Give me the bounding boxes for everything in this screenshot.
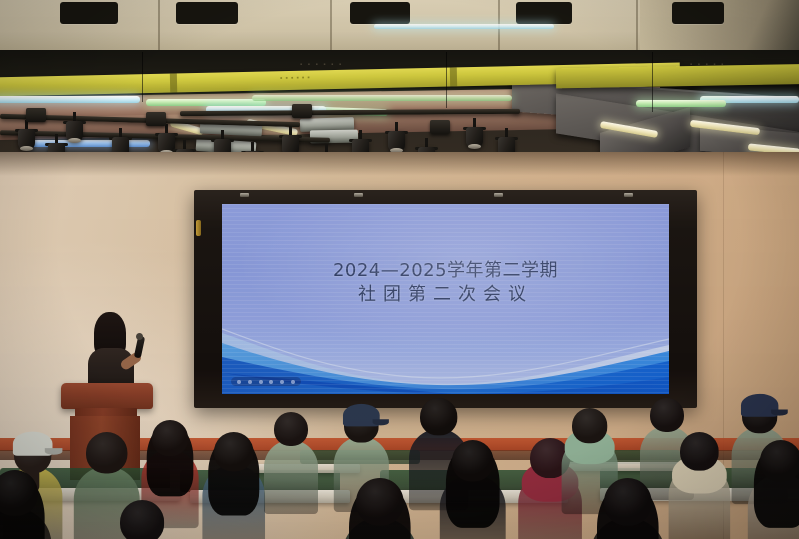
ceiling-vent <box>60 2 118 24</box>
spotlight-yoke <box>325 144 328 152</box>
stage-light-body <box>430 120 450 134</box>
screen-bezel-clip <box>354 193 363 197</box>
spotlight-housing <box>176 149 193 152</box>
highlighter-icon[interactable] <box>259 380 263 384</box>
slide-title-line: 2024—2025学年第二学期 <box>222 260 669 281</box>
attendee-cap-brim <box>771 409 788 415</box>
fluorescent-tube <box>0 96 140 103</box>
spotlight-housing <box>112 137 129 152</box>
attendee-head <box>650 398 684 432</box>
attendee-head <box>420 398 457 435</box>
ceiling-vent <box>350 2 410 24</box>
attendee-torso <box>264 440 318 514</box>
spotlight-lens <box>20 146 33 151</box>
attendee-head <box>0 470 38 516</box>
attendee-head <box>760 440 799 481</box>
ceiling-vent <box>516 2 572 24</box>
attendee-head <box>356 478 404 526</box>
slide-subtitle-line: 社团第二次会议 <box>222 284 669 305</box>
attendee-head <box>86 432 127 473</box>
screen-bezel-clip <box>240 193 249 197</box>
attendee-head <box>274 412 308 446</box>
ceiling-panel-rib <box>158 0 160 52</box>
spotlight-lens <box>160 150 173 152</box>
slide-canvas[interactable]: 2024—2025学年第二学期 社团第二次会议 <box>222 204 669 394</box>
fluorescent-tube <box>146 99 266 106</box>
attendee-head <box>452 440 493 481</box>
attendee-cap-brim <box>373 419 389 425</box>
ceiling-structure: ▪ ▪ ▪ ▪ ▪ ▪ ▪ ▪ ▪ ▪ ▪ ▪▪▪▪▪▪ <box>0 0 799 152</box>
attendee-head <box>680 432 719 471</box>
stage-light-body <box>26 108 46 122</box>
screen-bezel-clip <box>494 193 503 197</box>
ceiling-vent <box>176 2 238 24</box>
spotlight-housing <box>352 139 369 152</box>
spotlight-lens <box>468 144 481 149</box>
attendee-head <box>214 432 253 471</box>
lecture-hall-scene: ▪ ▪ ▪ ▪ ▪ ▪ ▪ ▪ ▪ ▪ ▪ ▪▪▪▪▪▪ <box>0 0 799 539</box>
screen-bezel-clip <box>624 193 633 197</box>
spotlight-housing <box>418 147 435 152</box>
more-options-icon[interactable] <box>280 380 284 384</box>
attendee-head <box>120 500 164 539</box>
beam-joint <box>170 73 177 92</box>
fluorescent-tube <box>636 100 726 107</box>
magnify-icon[interactable] <box>291 380 295 384</box>
laser-pointer-icon[interactable] <box>248 380 252 384</box>
suspension-wire <box>652 52 653 112</box>
microphone-head <box>136 333 143 340</box>
ceiling-panel-rib <box>636 0 638 52</box>
spotlight-housing <box>48 143 65 152</box>
attendee-head <box>604 478 652 526</box>
yellow-beam-right-extension <box>556 64 799 89</box>
wall-top-shadow <box>0 150 799 176</box>
attendee-head <box>152 420 188 456</box>
screen-mount-bracket <box>196 220 201 236</box>
suspension-wire <box>446 52 447 108</box>
beam-marking-text: ▪▪▪▪▪▪ <box>280 74 313 82</box>
pen-icon[interactable] <box>237 380 241 384</box>
spotlight-housing <box>282 135 299 152</box>
spotlight-housing <box>498 137 515 152</box>
suspension-wire <box>142 52 143 102</box>
spotlight-lens <box>390 148 403 152</box>
led-display-panel[interactable]: 2024—2025学年第二学期 社团第二次会议 <box>194 190 697 408</box>
stage-light-body <box>146 112 166 126</box>
podium-top <box>61 383 153 409</box>
fluorescent-tube <box>252 95 512 101</box>
fluorescent-tube <box>374 24 554 29</box>
spotlight-lens <box>68 138 81 143</box>
slide-navigator-icon[interactable] <box>269 380 273 384</box>
spotlight-housing <box>244 151 261 152</box>
attendee-cap-brim <box>45 448 63 455</box>
attendee-head <box>572 408 607 443</box>
beam-stencil-text: ▪ ▪ ▪ ▪ ▪ ▪ <box>300 62 343 68</box>
ceiling-panel-rib <box>330 0 332 52</box>
powerpoint-presenter-toolbar[interactable] <box>231 377 301 386</box>
ceiling-vent <box>672 2 724 24</box>
stage-light-body <box>292 104 312 118</box>
beam-joint <box>450 67 457 86</box>
spotlight-housing <box>214 139 231 152</box>
